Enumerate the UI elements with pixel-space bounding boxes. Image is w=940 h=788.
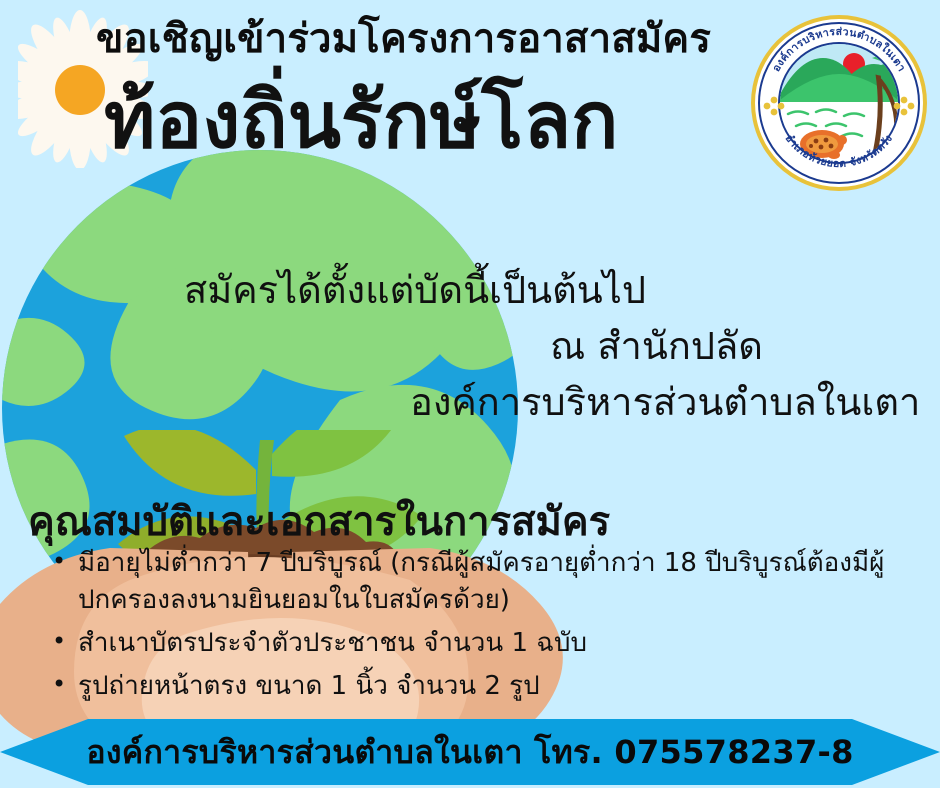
poster-title: ท้องถิ่นรักษ์โลก (104, 82, 744, 160)
aobto-naitao-logo-seal: องค์การบริหารส่วนตำบลในเตา อำเภอห้วยยอด … (750, 14, 928, 192)
detail-line-when: สมัครได้ตั้งแต่บัดนี้เป็นต้นไป (40, 262, 940, 318)
footer-contact-text: องค์การบริหารส่วนตำบลในเตา โทร. 07557823… (86, 727, 853, 778)
poster-root: องค์การบริหารส่วนตำบลในเตา อำเภอห้วยยอด … (0, 0, 940, 788)
detail-line-office: ณ สำนักปลัด (40, 318, 940, 374)
qualifications-heading: คุณสมบัติและเอกสารในการสมัคร (28, 489, 610, 553)
detail-line-organization: องค์การบริหารส่วนตำบลในเตา (40, 374, 940, 430)
list-item: รูปถ่ายหน้าตรง ขนาด 1 นิ้ว จำนวน 2 รูป (72, 668, 940, 705)
list-item: สำเนาบัตรประจำตัวประชาชน จำนวน 1 ฉบับ (72, 625, 940, 662)
qualifications-list: มีอายุไม่ต่ำกว่า 7 ปีบริบูรณ์ (กรณีผู้สม… (46, 545, 940, 711)
application-details: สมัครได้ตั้งแต่บัดนี้เป็นต้นไป ณ สำนักปล… (40, 262, 940, 431)
list-item: มีอายุไม่ต่ำกว่า 7 ปีบริบูรณ์ (กรณีผู้สม… (72, 545, 940, 619)
invitation-line: ขอเชิญเข้าร่วมโครงการอาสาสมัคร (96, 16, 716, 62)
footer-contact-banner: องค์การบริหารส่วนตำบลในเตา โทร. 07557823… (0, 719, 940, 785)
